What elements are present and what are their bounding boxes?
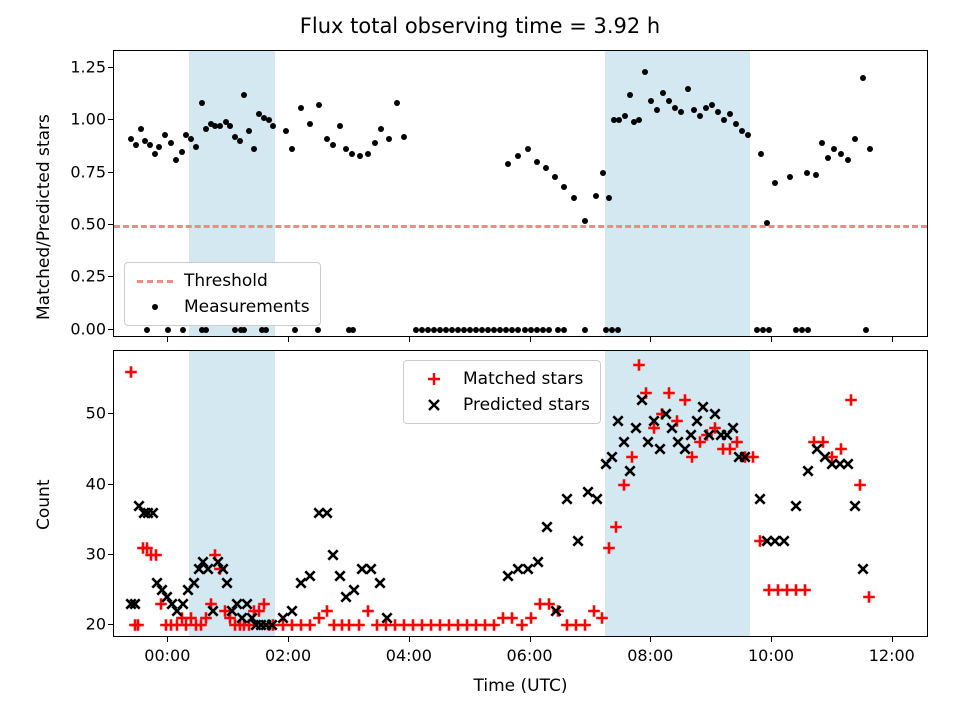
- measurement-point-zero: [540, 327, 546, 333]
- measurement-point-zero: [203, 327, 209, 333]
- measurement-point-zero: [350, 327, 356, 333]
- measurement-point: [867, 146, 873, 152]
- count-axis-label: Count: [34, 480, 54, 531]
- measurement-point: [270, 123, 276, 129]
- measurement-point-zero: [582, 327, 588, 333]
- measurement-point: [505, 161, 511, 167]
- measurement-point: [787, 174, 793, 180]
- measurement-point: [582, 218, 588, 224]
- x-axis-tick: [650, 637, 651, 642]
- measurement-point: [813, 172, 819, 178]
- measurement-point: [860, 75, 866, 81]
- measurement-point: [561, 184, 567, 190]
- measurement-point: [168, 140, 174, 146]
- measurement-point-zero: [180, 327, 186, 333]
- y-axis-tick-label: 20: [0, 615, 106, 634]
- measurement-point: [804, 170, 810, 176]
- shaded-time-region: [189, 351, 275, 636]
- measurement-point: [758, 151, 764, 157]
- measurement-point-zero: [546, 327, 552, 333]
- measurement-point: [552, 174, 558, 180]
- measurement-point: [152, 151, 158, 157]
- y-axis-tick: [108, 413, 113, 414]
- measurement-point-zero: [263, 327, 269, 333]
- x-axis-tick: [167, 337, 168, 342]
- y-axis-tick: [108, 484, 113, 485]
- measurement-point-zero: [534, 327, 540, 333]
- x-axis-tick-label: 08:00: [627, 646, 673, 665]
- x-axis-tick: [892, 637, 893, 642]
- x-axis-tick: [288, 337, 289, 342]
- measurement-point-zero: [528, 327, 534, 333]
- measurement-point: [365, 151, 371, 157]
- y-axis-tick: [108, 624, 113, 625]
- measurement-point: [199, 100, 205, 106]
- legend-item-threshold[interactable]: Threshold: [132, 268, 310, 294]
- measurement-point: [627, 92, 633, 98]
- measurement-point: [138, 126, 144, 132]
- legend-item-predicted-stars[interactable]: Predicted stars: [411, 392, 590, 418]
- measurement-point: [593, 193, 599, 199]
- measurement-point: [525, 146, 531, 152]
- measurement-point-zero: [292, 327, 298, 333]
- measurement-point-zero: [615, 327, 621, 333]
- measurement-point-zero: [515, 327, 521, 333]
- measurement-point: [772, 180, 778, 186]
- x-axis-tick: [771, 337, 772, 342]
- measurement-point: [715, 109, 721, 115]
- measurement-point-zero: [766, 327, 772, 333]
- measurement-point: [831, 146, 837, 152]
- y-axis-tick: [108, 67, 113, 68]
- measurement-point-zero: [561, 327, 567, 333]
- measurement-point: [324, 136, 330, 142]
- measurement-point-zero: [419, 327, 425, 333]
- measurement-point: [721, 117, 727, 123]
- x-axis-tick-label: 04:00: [386, 646, 432, 665]
- measurement-point: [316, 102, 322, 108]
- measurement-point: [543, 165, 549, 171]
- x-axis-tick-label: 02:00: [265, 646, 311, 665]
- measurement-point: [401, 134, 407, 140]
- measurement-point-zero: [863, 327, 869, 333]
- x-axis-tick: [530, 337, 531, 342]
- x-axis-tick: [892, 337, 893, 342]
- plus-marker-icon: [411, 371, 457, 387]
- y-axis-tick: [108, 119, 113, 120]
- measurement-point: [156, 144, 162, 150]
- measurement-point: [697, 113, 703, 119]
- measurement-point: [616, 117, 622, 123]
- measurement-point-zero: [522, 327, 528, 333]
- ratio-legend: Threshold Measurements: [124, 262, 321, 326]
- measurement-point: [838, 151, 844, 157]
- measurement-point-zero: [144, 327, 150, 333]
- x-axis-tick: [167, 637, 168, 642]
- measurement-point: [703, 105, 709, 111]
- time-axis-label: Time (UTC): [113, 676, 928, 696]
- x-axis-tick: [288, 637, 289, 642]
- measurement-point-zero: [241, 327, 247, 333]
- measurement-point: [764, 220, 770, 226]
- dashed-line-icon: [132, 280, 178, 283]
- measurement-point: [162, 132, 168, 138]
- measurement-point: [357, 153, 363, 159]
- measurement-point: [394, 100, 400, 106]
- x-axis-tick-label: 00:00: [144, 646, 190, 665]
- y-axis-tick-label: 1.25: [0, 57, 106, 76]
- measurement-point: [133, 142, 139, 148]
- measurement-point-zero: [805, 327, 811, 333]
- count-legend: Matched stars Predicted stars: [403, 360, 601, 424]
- measurement-point: [606, 195, 612, 201]
- x-axis-tick: [650, 337, 651, 342]
- legend-label-matched-stars: Matched stars: [463, 369, 583, 389]
- measurement-point: [203, 126, 209, 132]
- x-axis-tick: [771, 637, 772, 642]
- y-axis-tick-label: 0.00: [0, 319, 106, 338]
- measurement-point-zero: [555, 327, 561, 333]
- measurement-point: [246, 128, 252, 134]
- cross-marker-icon: [411, 397, 457, 413]
- measurement-point: [739, 128, 745, 134]
- measurement-point: [571, 195, 577, 201]
- measurement-point: [685, 86, 691, 92]
- x-axis-tick-label: 10:00: [748, 646, 794, 665]
- threshold-line: [114, 225, 927, 228]
- measurement-point: [147, 142, 153, 148]
- measurement-point: [622, 113, 628, 119]
- ratio-axis-label: Matched/Predicted stars: [34, 114, 54, 320]
- measurement-point: [266, 117, 272, 123]
- point-marker-icon: [132, 304, 178, 310]
- measurement-point-zero: [232, 327, 238, 333]
- measurement-point-zero: [165, 327, 171, 333]
- measurement-point-zero: [413, 327, 419, 333]
- measurement-point: [691, 107, 697, 113]
- measurement-point: [128, 136, 134, 142]
- measurement-point: [534, 159, 540, 165]
- measurement-point: [372, 140, 378, 146]
- measurement-point: [386, 136, 392, 142]
- measurement-point: [179, 149, 185, 155]
- y-axis-tick-label: 30: [0, 544, 106, 563]
- measurement-point: [852, 136, 858, 142]
- measurement-point: [298, 105, 304, 111]
- y-axis-tick: [108, 554, 113, 555]
- measurement-point: [819, 140, 825, 146]
- measurement-point: [515, 153, 521, 159]
- measurement-point: [289, 146, 295, 152]
- y-axis-tick: [108, 329, 113, 330]
- x-axis-tick: [409, 337, 410, 342]
- x-axis-tick-label: 12:00: [869, 646, 915, 665]
- legend-label-threshold: Threshold: [184, 271, 268, 291]
- measurement-point: [307, 121, 313, 127]
- y-axis-tick: [108, 172, 113, 173]
- y-axis-tick: [108, 224, 113, 225]
- measurement-point: [745, 132, 751, 138]
- x-axis-tick: [530, 637, 531, 642]
- measurement-point: [173, 157, 179, 163]
- legend-label-measurements: Measurements: [184, 297, 310, 317]
- page-title: Flux total observing time = 3.92 h: [0, 14, 960, 38]
- legend-item-measurements[interactable]: Measurements: [132, 294, 310, 320]
- measurement-point: [600, 170, 606, 176]
- legend-item-matched-stars[interactable]: Matched stars: [411, 366, 590, 392]
- measurement-point: [349, 151, 355, 157]
- measurement-point-zero: [315, 327, 321, 333]
- measurement-point: [378, 126, 384, 132]
- x-axis-tick: [409, 637, 410, 642]
- measurement-point: [727, 111, 733, 117]
- x-axis-tick-label: 06:00: [506, 646, 552, 665]
- measurement-point: [330, 142, 336, 148]
- legend-label-predicted-stars: Predicted stars: [463, 395, 590, 415]
- y-axis-tick-label: 50: [0, 404, 106, 423]
- measurement-point: [337, 123, 343, 129]
- figure-root: Flux total observing time = 3.92 h 0.000…: [0, 0, 960, 720]
- measurement-point: [237, 138, 243, 144]
- measurement-point: [825, 155, 831, 161]
- y-axis-tick: [108, 276, 113, 277]
- measurement-point: [283, 128, 289, 134]
- measurement-point: [654, 107, 660, 113]
- measurement-point: [845, 157, 851, 163]
